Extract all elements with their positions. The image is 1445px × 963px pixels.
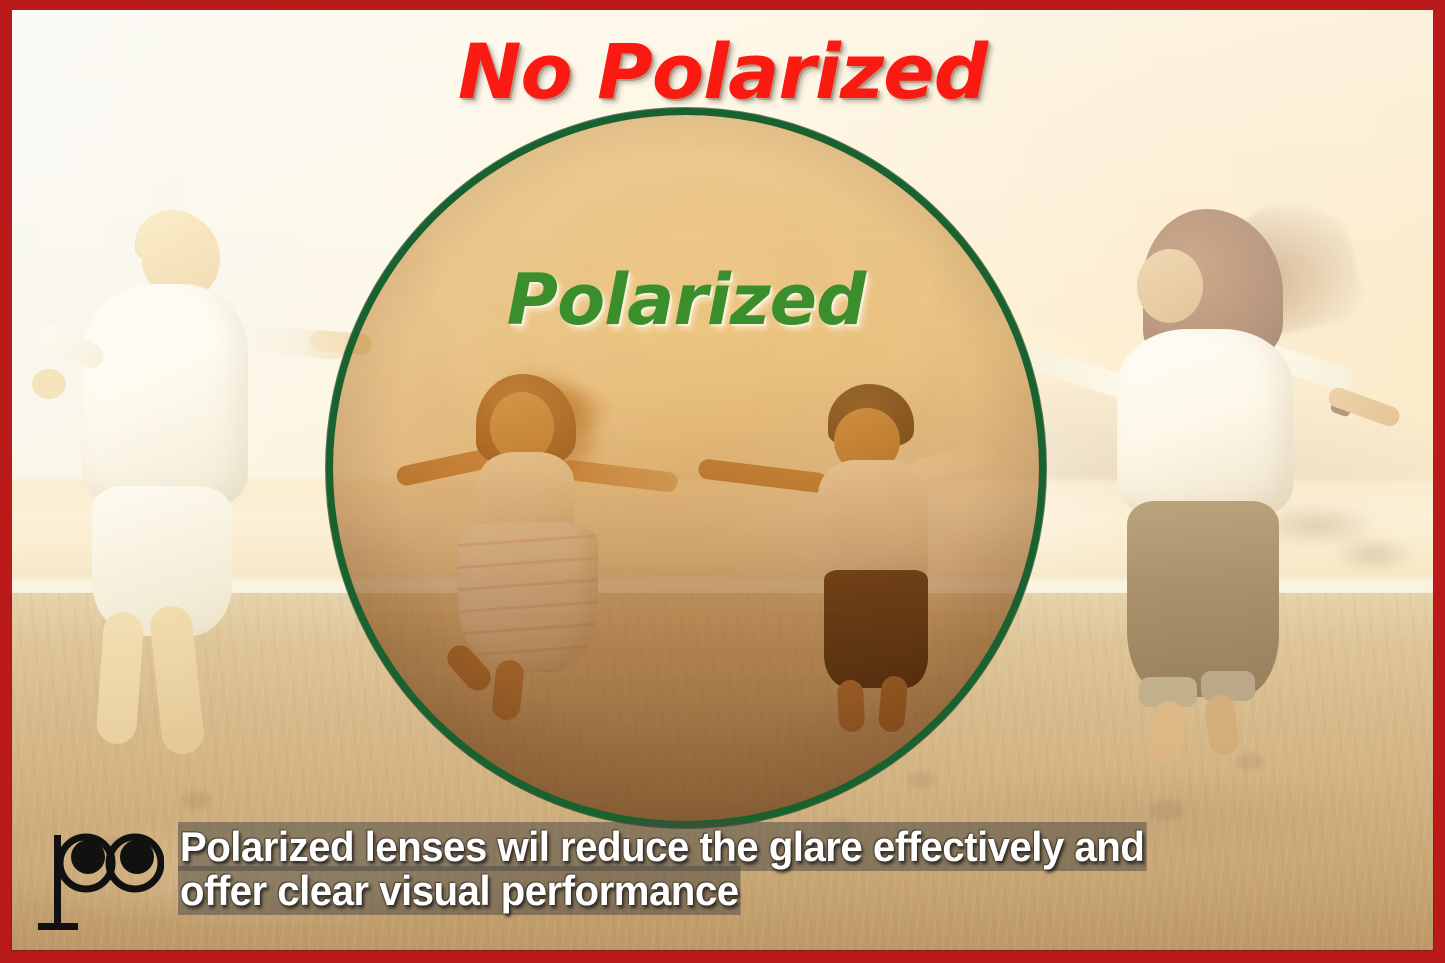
polarized-comparison-poster: No Polarized Polarized Polarized lenses … bbox=[0, 0, 1445, 963]
title-polarized: Polarized bbox=[333, 259, 1039, 341]
polarized-vignette bbox=[333, 115, 1039, 821]
caption-line-2: offer clear visual performance bbox=[178, 866, 740, 915]
caption-bar: Polarized lenses wil reduce the glare ef… bbox=[10, 825, 1435, 939]
caption-line-1: Polarized lenses wil reduce the glare ef… bbox=[178, 822, 1146, 871]
beach-photo: No Polarized Polarized Polarized lenses … bbox=[10, 9, 1435, 951]
polarized-lens-circle bbox=[333, 115, 1039, 821]
caption-text: Polarized lenses wil reduce the glare ef… bbox=[178, 825, 1375, 912]
glasses-eyes-icon bbox=[36, 829, 164, 939]
title-no-polarized: No Polarized bbox=[10, 27, 1435, 116]
